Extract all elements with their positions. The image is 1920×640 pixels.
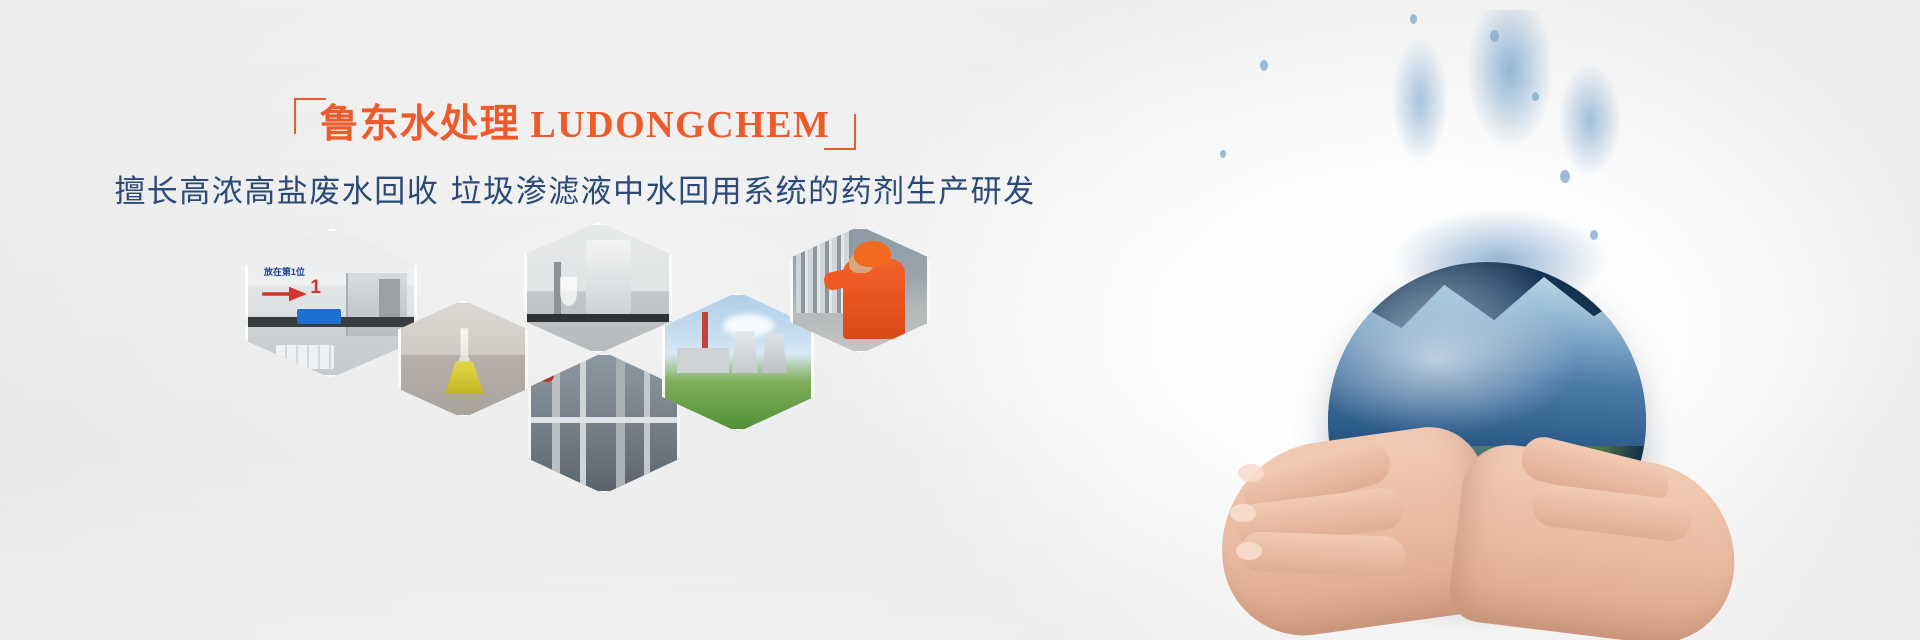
fingernail (1230, 504, 1256, 522)
distillation-rig (586, 240, 630, 314)
water-droplet (1260, 60, 1268, 71)
pipe-1 (552, 352, 560, 494)
red-arrow-icon (262, 285, 307, 303)
industrial-piping-photo[interactable] (528, 352, 680, 494)
pipe-4 (644, 352, 650, 494)
photo-surface (528, 352, 680, 494)
water-droplet (1532, 92, 1539, 101)
yellow-liquid (445, 361, 484, 394)
banner-text-block: 鲁东水处理 LUDONGCHEM 擅长高浓高盐废水回收 垃圾渗滤液中水回用系统的… (0, 96, 1150, 212)
water-droplet (1560, 170, 1570, 183)
number-one-graphic: 1 (310, 278, 321, 297)
laboratory-room-photo[interactable]: 放在第1位 1 (245, 228, 417, 378)
photo-surface (398, 300, 528, 418)
banner-subtitle: 擅长高浓高盐废水回收 垃圾渗滤液中水回用系统的药剂生产研发 (0, 172, 1150, 212)
lab-equipment-photo[interactable] (524, 222, 672, 354)
water-droplet (1220, 150, 1226, 158)
fingernail (1238, 464, 1264, 482)
pipe-3 (616, 352, 625, 494)
orange-hard-hat-icon (854, 241, 890, 267)
yellow-flask-photo[interactable] (398, 300, 528, 418)
cooling-tower-1 (732, 331, 758, 373)
lab-bench (524, 314, 672, 322)
hands-holding-globe (1220, 430, 1740, 640)
plant-building (677, 348, 729, 373)
glassware (560, 277, 578, 306)
handrail (528, 417, 680, 423)
finger (1239, 531, 1405, 577)
water-droplet (1490, 30, 1499, 42)
wall-slogan-text: 放在第1位 (264, 267, 305, 277)
red-valve-wheel (540, 369, 554, 382)
brand-title: 鲁东水处理 LUDONGCHEM (294, 96, 857, 152)
brand-title-cn: 鲁东水处理 (320, 103, 520, 146)
photo-surface (524, 222, 672, 354)
hero-banner: 鲁东水处理 LUDONGCHEM 擅长高浓高盐废水回收 垃圾渗滤液中水回用系统的… (0, 0, 1920, 640)
brand-title-en: LUDONGCHEM (530, 104, 830, 146)
chemical-jugs (276, 345, 334, 369)
water-droplet (1410, 14, 1417, 24)
photo-surface: 放在第1位 1 (245, 228, 417, 378)
fingernail (1236, 542, 1262, 560)
blue-instrument (297, 309, 342, 324)
pipe-2 (580, 352, 586, 494)
water-droplet (1590, 230, 1598, 240)
water-splash-globe (1160, 0, 1920, 640)
brand-title-text: 鲁东水处理 LUDONGCHEM (320, 102, 831, 148)
cooling-tower-2 (762, 334, 786, 373)
lab-cabinet-panel (379, 279, 400, 318)
